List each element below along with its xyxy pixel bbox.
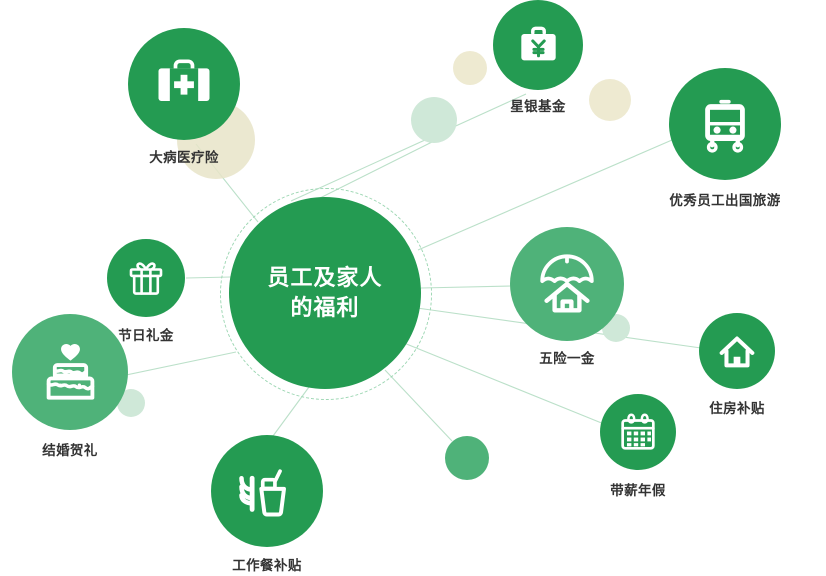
center-hub-line1: 员工及家人 — [267, 263, 382, 293]
label-wedding-gift: 结婚贺礼 — [0, 439, 180, 459]
wire-social-insurance — [421, 286, 512, 288]
gift-icon — [122, 254, 170, 302]
calendar-icon — [615, 409, 661, 455]
medical-kit-icon — [150, 50, 218, 118]
node-meal-allowance[interactable] — [211, 435, 323, 547]
node-xingyin-fund[interactable] — [493, 0, 583, 90]
wire-wedding-gift — [126, 352, 236, 375]
label-holiday-bonus: 节日礼金 — [36, 324, 256, 344]
node-housing-subsidy[interactable] — [699, 313, 775, 389]
label-paid-annual-leave: 带薪年假 — [528, 479, 748, 499]
wedding-cake-icon — [35, 337, 106, 408]
label-major-illness-insurance: 大病医疗险 — [74, 146, 294, 166]
label-xingyin-fund: 星银基金 — [428, 95, 648, 115]
node-paid-annual-leave[interactable] — [600, 394, 676, 470]
benefits-diagram-canvas: 员工及家人 的福利 大病医疗险星银基金优秀员工出国旅游五险一金住房补贴带薪年假工… — [0, 0, 826, 576]
deco-cream-1 — [453, 51, 487, 85]
node-holiday-bonus[interactable] — [107, 239, 185, 317]
label-overseas-travel: 优秀员工出国旅游 — [615, 189, 826, 209]
label-meal-allowance: 工作餐补贴 — [157, 554, 377, 574]
center-hub[interactable]: 员工及家人 的福利 — [229, 197, 421, 389]
bus-icon — [691, 90, 759, 158]
briefcase-yen-icon — [511, 18, 566, 73]
center-hub-line2: 的福利 — [290, 293, 359, 323]
wire-deco-green — [385, 370, 452, 441]
node-major-illness-insurance[interactable] — [128, 28, 240, 140]
house-icon — [714, 328, 760, 374]
label-social-insurance: 五险一金 — [457, 347, 677, 367]
umbrella-house-icon — [532, 249, 602, 319]
meal-icon — [233, 457, 301, 525]
node-overseas-travel[interactable] — [669, 68, 781, 180]
node-social-insurance[interactable] — [510, 227, 624, 341]
deco-green-1 — [445, 436, 489, 480]
